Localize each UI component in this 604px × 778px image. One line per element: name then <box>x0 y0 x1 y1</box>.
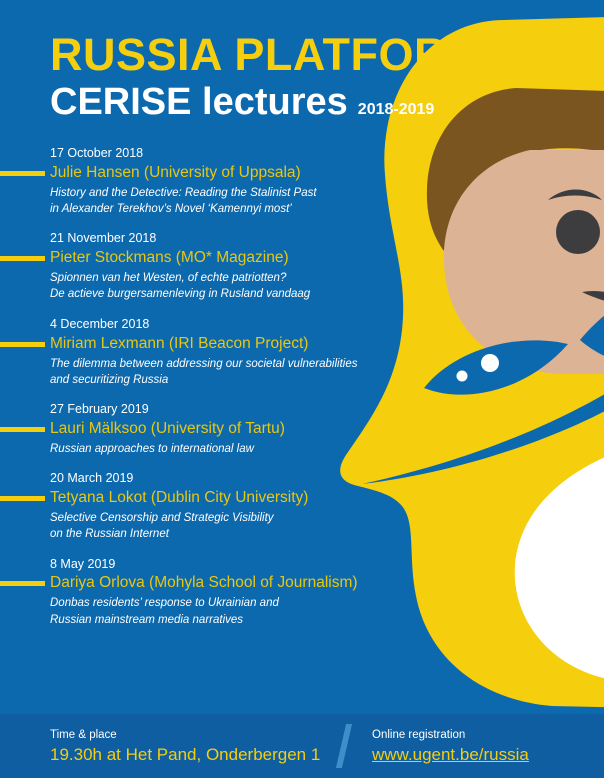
footer-time-place: Time & place 19.30h at Het Pand, Onderbe… <box>50 727 320 766</box>
lecture-item: 8 May 2019 Dariya Orlova (Mohyla School … <box>0 555 420 628</box>
doll-leaf-dot-small-left <box>457 371 468 382</box>
footer-registration: Online registration www.ugent.be/russia <box>372 727 529 766</box>
doll-eye <box>556 210 600 254</box>
lecture-description-line: Donbas residents’ response to Ukrainian … <box>50 595 420 611</box>
lecture-description: The dilemma between addressing our socie… <box>50 356 420 389</box>
lecture-speaker-row: Miriam Lexmann (IRI Beacon Project) <box>0 334 420 355</box>
registration-link[interactable]: www.ugent.be/russia <box>372 744 529 766</box>
poster-header: RUSSIA PLATFORM CERISE lectures 2018-201… <box>50 32 485 121</box>
bullet-dash-icon <box>0 427 45 432</box>
lecture-item: 21 November 2018 Pieter Stockmans (MO* M… <box>0 229 420 302</box>
page-subtitle: CERISE lectures <box>50 83 348 121</box>
lecture-description-line: Spionnen van het Westen, of echte patrio… <box>50 270 420 286</box>
lecture-description-line: Russian mainstream media narratives <box>50 612 420 628</box>
lecture-date: 8 May 2019 <box>50 555 420 574</box>
bullet-dash-icon <box>0 256 45 261</box>
bullet-dash-icon <box>0 171 45 176</box>
bullet-dash-icon <box>0 581 45 586</box>
lecture-date: 21 November 2018 <box>50 229 420 248</box>
lecture-description-line: History and the Detective: Reading the S… <box>50 185 420 201</box>
registration-label: Online registration <box>372 727 529 743</box>
lecture-description-line: in Alexander Terekhov’s Novel ‘Kamennyi … <box>50 201 420 217</box>
lecture-speaker: Lauri Mälksoo (University of Tartu) <box>50 419 285 440</box>
lecture-description-line: on the Russian Internet <box>50 526 420 542</box>
lecture-date: 4 December 2018 <box>50 315 420 334</box>
lecture-description: Selective Censorship and Strategic Visib… <box>50 510 420 543</box>
bullet-dash-icon <box>0 496 45 501</box>
lecture-description: Spionnen van het Westen, of echte patrio… <box>50 270 420 303</box>
time-place-value: 19.30h at Het Pand, Onderbergen 1 <box>50 744 320 766</box>
lecture-speaker-row: Lauri Mälksoo (University of Tartu) <box>0 419 420 440</box>
poster-footer: Time & place 19.30h at Het Pand, Onderbe… <box>0 714 604 778</box>
lecture-description-line: De actieve burgersamenleving in Rusland … <box>50 286 420 302</box>
lecture-description-line: The dilemma between addressing our socie… <box>50 356 420 372</box>
academic-year-badge: 2018-2019 <box>358 101 435 119</box>
lecture-description-line: and securitizing Russia <box>50 372 420 388</box>
time-place-label: Time & place <box>50 727 320 743</box>
poster: RUSSIA PLATFORM CERISE lectures 2018-201… <box>0 0 604 778</box>
lecture-description-line: Selective Censorship and Strategic Visib… <box>50 510 420 526</box>
lecture-speaker: Miriam Lexmann (IRI Beacon Project) <box>50 334 308 355</box>
lecture-item: 20 March 2019 Tetyana Lokot (Dublin City… <box>0 469 420 542</box>
subtitle-row: CERISE lectures 2018-2019 <box>50 83 485 121</box>
lecture-speaker-row: Pieter Stockmans (MO* Magazine) <box>0 248 420 269</box>
lecture-item: 17 October 2018 Julie Hansen (University… <box>0 144 420 217</box>
lecture-speaker: Tetyana Lokot (Dublin City University) <box>50 488 308 509</box>
lecture-list: 17 October 2018 Julie Hansen (University… <box>0 144 420 640</box>
lecture-item: 4 December 2018 Miriam Lexmann (IRI Beac… <box>0 315 420 388</box>
bullet-dash-icon <box>0 342 45 347</box>
lecture-description: Russian approaches to international law <box>50 441 420 457</box>
lecture-description: Donbas residents’ response to Ukrainian … <box>50 595 420 628</box>
footer-divider-slash <box>336 724 352 768</box>
doll-leaf-dot-large-left <box>481 354 499 372</box>
lecture-date: 27 February 2019 <box>50 400 420 419</box>
lecture-speaker-row: Dariya Orlova (Mohyla School of Journali… <box>0 573 420 594</box>
page-title: RUSSIA PLATFORM <box>50 32 485 77</box>
lecture-date: 17 October 2018 <box>50 144 420 163</box>
lecture-speaker-row: Julie Hansen (University of Uppsala) <box>0 163 420 184</box>
lecture-description: History and the Detective: Reading the S… <box>50 185 420 218</box>
lecture-date: 20 March 2019 <box>50 469 420 488</box>
lecture-speaker: Pieter Stockmans (MO* Magazine) <box>50 248 289 269</box>
lecture-description-line: Russian approaches to international law <box>50 441 420 457</box>
lecture-speaker-row: Tetyana Lokot (Dublin City University) <box>0 488 420 509</box>
lecture-speaker: Julie Hansen (University of Uppsala) <box>50 163 301 184</box>
lecture-item: 27 February 2019 Lauri Mälksoo (Universi… <box>0 400 420 457</box>
lecture-speaker: Dariya Orlova (Mohyla School of Journali… <box>50 573 358 594</box>
